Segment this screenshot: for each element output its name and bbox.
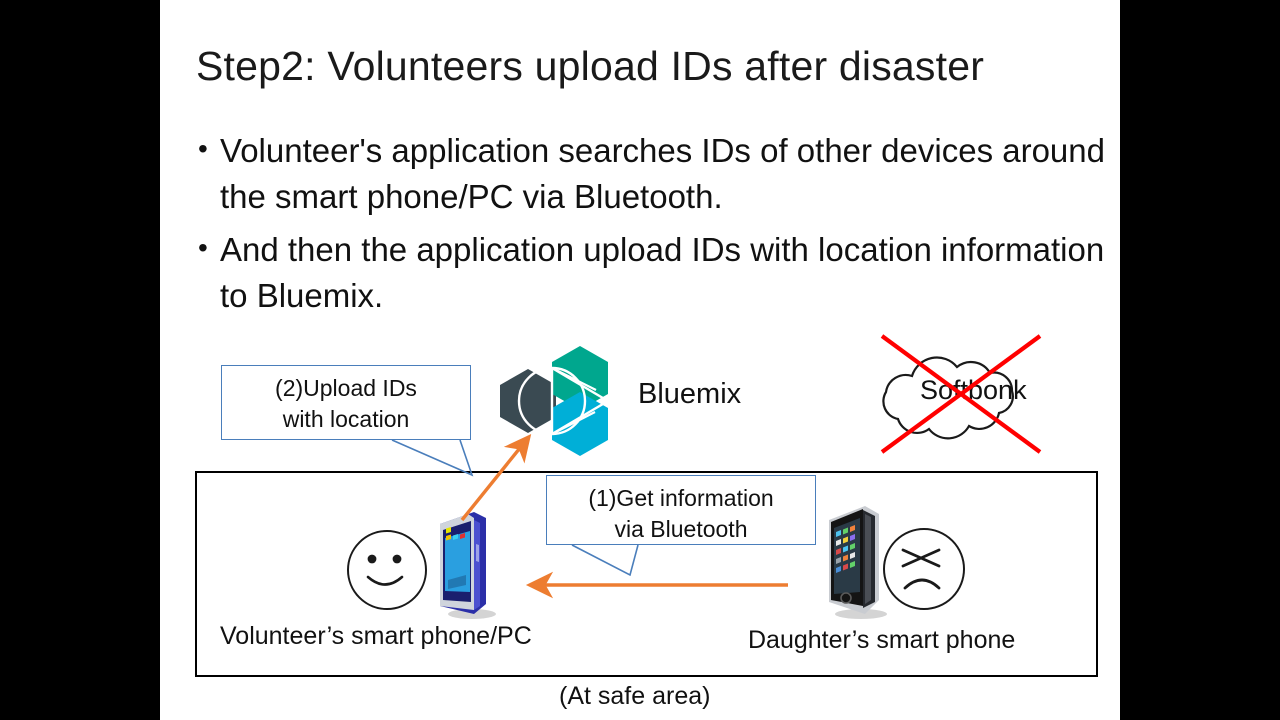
diagram-area: (2)Upload IDs with location (1)Get infor… (160, 320, 1120, 720)
callout-tail-get (572, 545, 638, 575)
bullet-text: Volunteer's application searches IDs of … (220, 132, 1105, 215)
page-title: Step2: Volunteers upload IDs after disas… (196, 44, 1096, 89)
list-item: • Volunteer's application searches IDs o… (190, 128, 1140, 219)
list-item: • And then the application upload IDs wi… (190, 227, 1140, 318)
bullet-text: And then the application upload IDs with… (220, 231, 1104, 314)
bluemix-hexagon-logo-icon (500, 346, 608, 456)
bullet-list: • Volunteer's application searches IDs o… (190, 128, 1140, 326)
slide-stage: Step2: Volunteers upload IDs after disas… (0, 0, 1280, 720)
letterbox-bar-right (1120, 0, 1280, 720)
callout-line-1: (1)Get information (547, 483, 815, 514)
upload-arrow (462, 438, 528, 520)
callout-tail-upload (392, 440, 472, 475)
bullet-dot-icon: • (198, 227, 208, 269)
presentation-slide: Step2: Volunteers upload IDs after disas… (160, 0, 1120, 720)
callout-upload-ids: (2)Upload IDs with location (221, 365, 471, 440)
letterbox-bar-left (0, 0, 160, 720)
callout-line-1: (2)Upload IDs (222, 373, 470, 404)
bullet-dot-icon: • (198, 128, 208, 170)
callout-line-2: with location (222, 404, 470, 435)
callout-line-2: via Bluetooth (547, 514, 815, 545)
callout-get-information: (1)Get information via Bluetooth (546, 475, 816, 545)
cloud-label: Softbonk (920, 375, 1027, 406)
